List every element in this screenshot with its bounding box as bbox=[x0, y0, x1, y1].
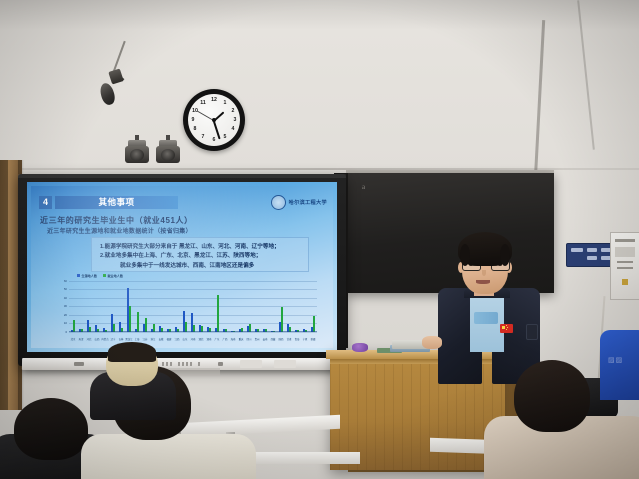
chart-y-tick: 20 bbox=[56, 313, 67, 317]
presentation-slide: 4 其他事项 哈尔滨工程大学 近三年的研究生毕业生中（就业451人） 近三年研究… bbox=[31, 186, 333, 348]
chart-bar-group bbox=[149, 281, 157, 332]
chart-x-tick-label: 重庆 bbox=[237, 337, 245, 341]
chart-x-tick-label: 安徽 bbox=[157, 337, 165, 341]
chart-bar-group bbox=[245, 281, 253, 332]
legend-item-source: 生源地人数 bbox=[77, 273, 97, 278]
chart-x-tick-label: 山东 bbox=[181, 337, 189, 341]
chart-bar-group bbox=[77, 281, 85, 332]
chart-bar-group bbox=[253, 281, 261, 332]
clock-numeral: 1 bbox=[221, 99, 229, 107]
chart-x-tick-label: 海南 bbox=[229, 337, 237, 341]
clock-numeral: 8 bbox=[191, 125, 199, 133]
legend-swatch-green bbox=[103, 274, 106, 277]
clock-center-pin bbox=[212, 118, 216, 122]
chart-x-tick-label: 内蒙古 bbox=[101, 337, 109, 341]
slide-heading: 近三年的研究生毕业生中（就业451人） bbox=[40, 215, 193, 226]
chart-bar-group bbox=[301, 281, 309, 332]
chart-x-tick-label: 吉林 bbox=[117, 337, 125, 341]
chart-plot-area: 0102030405060 北京天津河北山西内蒙古辽宁吉林黑龙江上海江苏浙江安徽… bbox=[69, 281, 317, 332]
chart-x-tick-label: 山西 bbox=[93, 337, 101, 341]
chart-x-tick-label: 黑龙江 bbox=[125, 337, 133, 341]
clock-numeral: 11 bbox=[199, 99, 207, 107]
wall-clock: 12 1 2 3 4 5 6 7 8 9 10 11 bbox=[183, 89, 245, 151]
chart-bars bbox=[69, 281, 317, 332]
clock-numeral: 5 bbox=[221, 133, 229, 141]
chart-bar-group bbox=[237, 281, 245, 332]
chart-x-tick-labels: 北京天津河北山西内蒙古辽宁吉林黑龙江上海江苏浙江安徽福建江西山东河南湖北湖南广东… bbox=[69, 337, 317, 341]
chart-bar-group bbox=[101, 281, 109, 332]
chart-bar-group bbox=[269, 281, 277, 332]
hand bbox=[422, 336, 442, 349]
university-logo: 哈尔滨工程大学 bbox=[271, 195, 327, 210]
chart-bar-group bbox=[69, 281, 77, 332]
chart-bar bbox=[217, 295, 219, 332]
chart-y-tick: 10 bbox=[56, 321, 67, 325]
chart-x-tick-label: 四川 bbox=[245, 337, 253, 341]
interactive-smart-display[interactable]: 4 其他事项 哈尔滨工程大学 近三年的研究生毕业生中（就业451人） 近三年研究… bbox=[18, 174, 346, 366]
slide-section-number: 4 bbox=[39, 196, 52, 209]
chart-x-tick-label: 江西 bbox=[173, 337, 181, 341]
wall-control-panel[interactable] bbox=[566, 243, 616, 267]
chart-x-tick-label: 北京 bbox=[69, 337, 77, 341]
bar-chart: 生源地人数 就业地人数 0102030405060 北京天津河北山西内蒙古辽宁吉… bbox=[55, 273, 319, 342]
chart-bar-group bbox=[109, 281, 117, 332]
purple-cloth bbox=[352, 343, 368, 352]
chart-bar-group bbox=[213, 281, 221, 332]
chart-bar-group bbox=[189, 281, 197, 332]
chart-x-tick-label: 上海 bbox=[133, 337, 141, 341]
chart-bar-group bbox=[309, 281, 317, 332]
university-seal-icon bbox=[271, 195, 286, 210]
chart-x-tick-label: 宁夏 bbox=[301, 337, 309, 341]
chart-bar-group bbox=[229, 281, 237, 332]
chalk-mark: a bbox=[362, 183, 365, 191]
slide-bullet-box: 1.能源学院研究生大部分来自于 黑龙江、山东、河北、河南、辽宁等地； 2.就业地… bbox=[91, 237, 309, 272]
chart-x-tick-label: 云南 bbox=[261, 337, 269, 341]
nose bbox=[482, 270, 486, 276]
chart-x-tick-label: 河南 bbox=[189, 337, 197, 341]
clock-numeral: 3 bbox=[231, 116, 239, 124]
ceiling-speaker-right bbox=[155, 140, 181, 166]
clock-numeral: 6 bbox=[210, 136, 218, 144]
chart-x-tick-label: 西藏 bbox=[269, 337, 277, 341]
chart-bar-group bbox=[133, 281, 141, 332]
chart-y-tick: 30 bbox=[56, 304, 67, 308]
chart-bar-group bbox=[85, 281, 93, 332]
chart-bar-group bbox=[173, 281, 181, 332]
clock-numeral: 9 bbox=[189, 116, 197, 124]
clock-numeral: 4 bbox=[229, 125, 237, 133]
tshirt-print bbox=[474, 312, 498, 324]
chart-bar-group bbox=[141, 281, 149, 332]
chart-x-tick-label: 青海 bbox=[293, 337, 301, 341]
chart-x-tick-label: 甘肃 bbox=[285, 337, 293, 341]
chart-bar-group bbox=[157, 281, 165, 332]
chart-bar bbox=[129, 306, 131, 332]
display-bezel-highlight bbox=[18, 174, 346, 178]
chart-bar-group bbox=[117, 281, 125, 332]
chart-x-axis bbox=[69, 331, 317, 332]
chart-x-tick-label: 河北 bbox=[85, 337, 93, 341]
chart-x-tick-label: 新疆 bbox=[309, 337, 317, 341]
chart-bar bbox=[137, 312, 139, 332]
legend-item-employment: 就业地人数 bbox=[103, 273, 123, 278]
electrical-box bbox=[610, 232, 639, 300]
chart-x-tick-label: 湖南 bbox=[205, 337, 213, 341]
legend-swatch-blue bbox=[77, 274, 80, 277]
chart-y-tick: 60 bbox=[56, 279, 67, 283]
slide-bullet-1: 1.能源学院研究生大部分来自于 黑龙江、山东、河北、河南、辽宁等地； bbox=[100, 242, 280, 250]
chart-bar-group bbox=[205, 281, 213, 332]
hair-side-right bbox=[500, 244, 510, 266]
audience-member-right bbox=[498, 360, 639, 479]
chart-x-tick-label: 浙江 bbox=[149, 337, 157, 341]
display-screen[interactable]: 4 其他事项 哈尔滨工程大学 近三年的研究生毕业生中（就业451人） 近三年研究… bbox=[27, 182, 337, 352]
mouth bbox=[476, 280, 490, 284]
chart-x-tick-label: 广西 bbox=[221, 337, 229, 341]
chart-bar-group bbox=[181, 281, 189, 332]
student-desk-center bbox=[250, 452, 360, 464]
hair-side-left bbox=[460, 244, 470, 266]
classroom-scene: 12 1 2 3 4 5 6 7 8 9 10 11 a bbox=[0, 0, 639, 479]
chinese-flag-patch bbox=[500, 324, 513, 333]
slide-note: 就业多集中于一线发达城市、西南、江南地区还是偏多 bbox=[120, 261, 254, 269]
legend-label-employment: 就业地人数 bbox=[107, 273, 122, 278]
chart-x-tick-label: 辽宁 bbox=[109, 337, 117, 341]
chart-y-tick: 0 bbox=[56, 330, 67, 334]
legend-label-source: 生源地人数 bbox=[82, 273, 97, 278]
chart-bar-group bbox=[277, 281, 285, 332]
chart-bar-group bbox=[165, 281, 173, 332]
chart-bar-group bbox=[293, 281, 301, 332]
chart-x-tick-label: 江苏 bbox=[141, 337, 149, 341]
door-gap bbox=[0, 160, 8, 410]
chart-bar bbox=[73, 320, 75, 332]
chart-x-tick-label: 陕西 bbox=[277, 337, 285, 341]
clock-numeral: 7 bbox=[199, 133, 207, 141]
university-name: 哈尔滨工程大学 bbox=[289, 199, 327, 206]
sleeve-patch bbox=[526, 324, 538, 340]
clock-numeral: 2 bbox=[229, 107, 237, 115]
audience-member-back-left bbox=[96, 342, 176, 412]
chart-bar bbox=[313, 316, 315, 332]
slide-subheading: 近三年研究生生源地和就业地数据统计（按省归集） bbox=[47, 226, 192, 235]
chart-bar-group bbox=[285, 281, 293, 332]
clock-face: 12 1 2 3 4 5 6 7 8 9 10 11 bbox=[188, 94, 240, 146]
chart-y-tick: 40 bbox=[56, 296, 67, 300]
chart-bar-group bbox=[197, 281, 205, 332]
slide-bullet-2: 2.就业地多集中在上海、广东、北京、黑龙江、江苏、陕西等地； bbox=[100, 251, 261, 259]
clock-numeral: 12 bbox=[210, 96, 218, 104]
chart-bar bbox=[145, 318, 147, 332]
chart-bar bbox=[281, 307, 283, 333]
chart-bar-group bbox=[125, 281, 133, 332]
chart-bar-group bbox=[261, 281, 269, 332]
chart-bar-group bbox=[93, 281, 101, 332]
chart-y-tick: 50 bbox=[56, 287, 67, 291]
chart-bar-group bbox=[221, 281, 229, 332]
chart-x-tick-label: 贵州 bbox=[253, 337, 261, 341]
ceiling-speaker-left bbox=[124, 140, 150, 166]
chart-x-tick-label: 湖北 bbox=[197, 337, 205, 341]
slide-section-title: 其他事项 bbox=[55, 196, 178, 209]
chart-legend: 生源地人数 就业地人数 bbox=[77, 273, 123, 278]
chart-x-tick-label: 广东 bbox=[213, 337, 221, 341]
chart-x-tick-label: 天津 bbox=[77, 337, 85, 341]
chart-x-tick-label: 福建 bbox=[165, 337, 173, 341]
